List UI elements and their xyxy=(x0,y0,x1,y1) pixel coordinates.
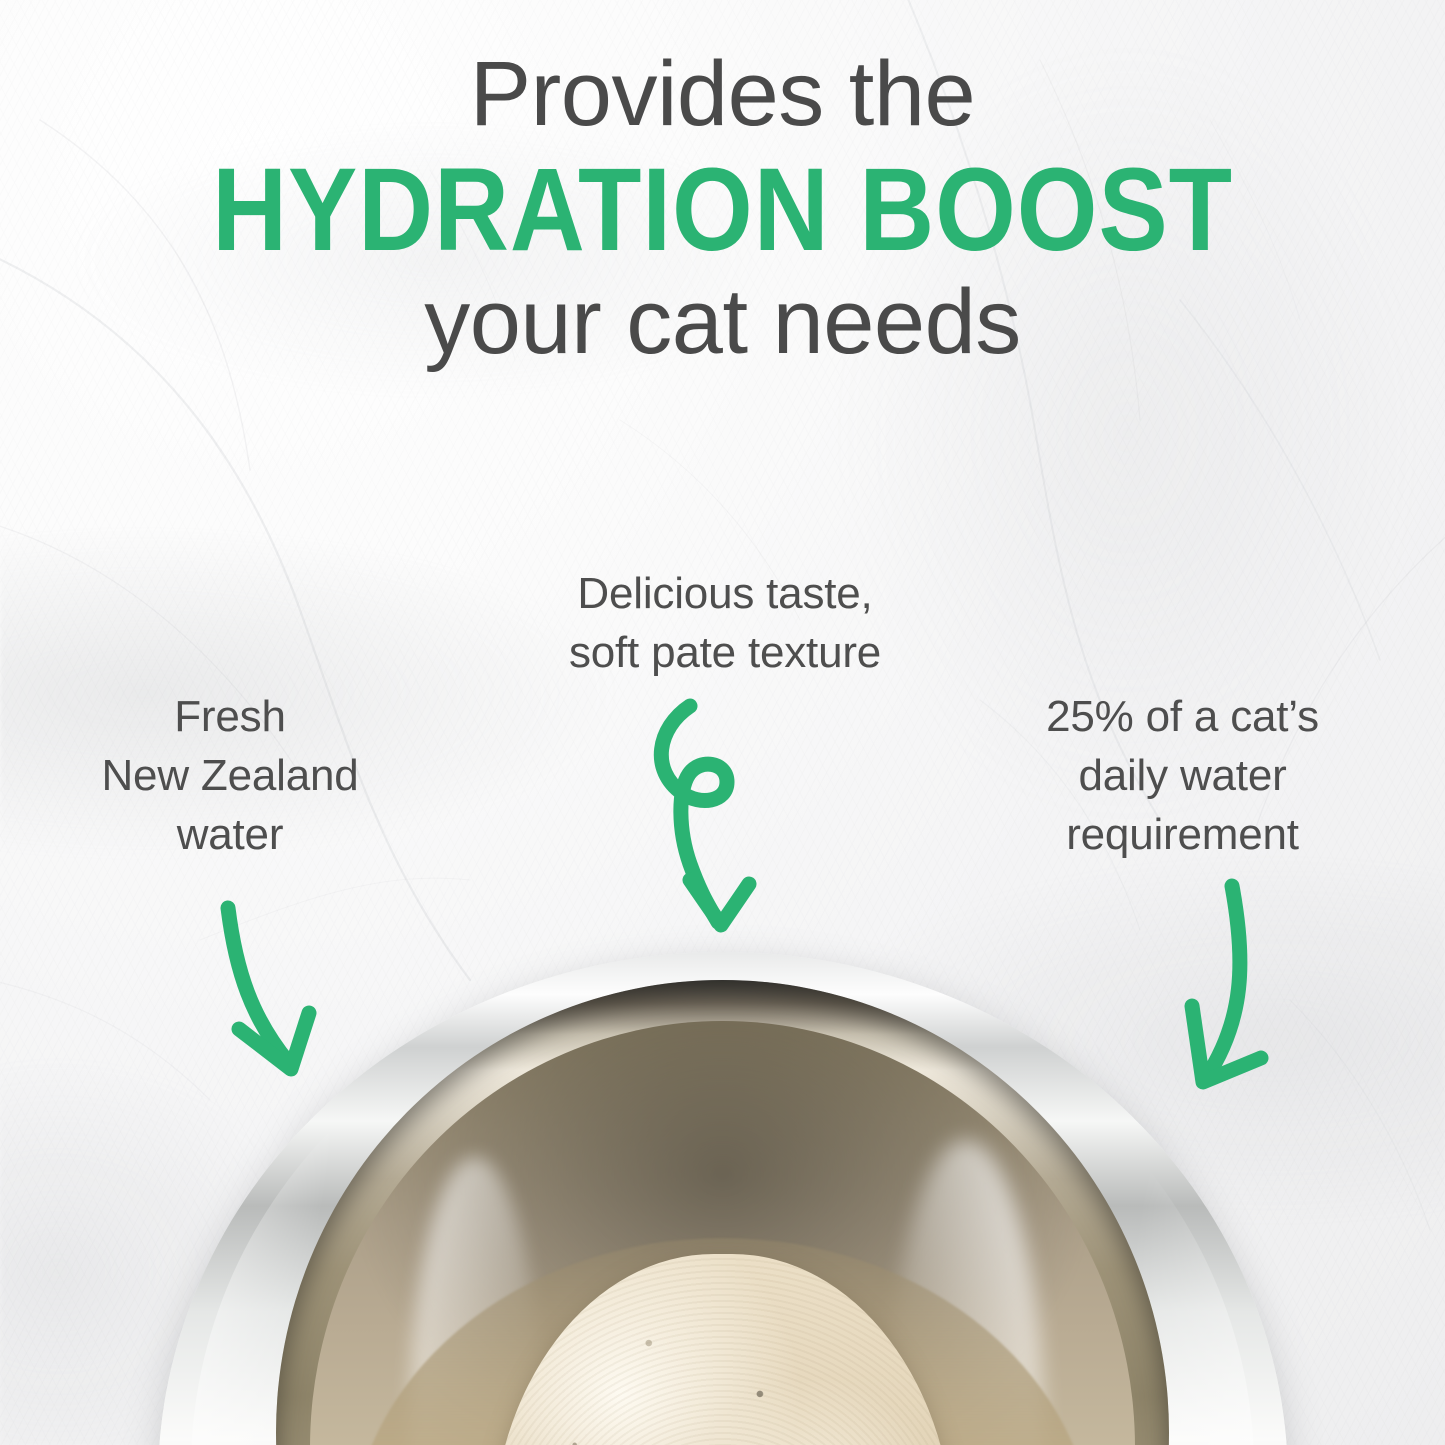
callout-daily-water-requirement: 25% of a cat’s daily water requirement xyxy=(1005,688,1360,865)
headline-line-3: your cat needs xyxy=(0,274,1445,372)
headline-line-2-accent: HYDRATION BOOST xyxy=(87,150,1359,270)
callout-left-line-1: Fresh xyxy=(60,688,400,747)
headline-block: Provides the HYDRATION BOOST your cat ne… xyxy=(0,46,1445,371)
callout-center-line-1: Delicious taste, xyxy=(500,565,950,624)
callout-right-line-3: requirement xyxy=(1005,806,1360,865)
promo-image: Provides the HYDRATION BOOST your cat ne… xyxy=(0,0,1445,1445)
callout-delicious-taste: Delicious taste, soft pate texture xyxy=(500,565,950,683)
callout-left-line-2: New Zealand xyxy=(60,747,400,806)
headline-line-1: Provides the xyxy=(0,46,1445,144)
callout-right-line-1: 25% of a cat’s xyxy=(1005,688,1360,747)
cat-food-bowl-photo xyxy=(158,952,1288,1445)
callout-right-line-2: daily water xyxy=(1005,747,1360,806)
callout-left-line-3: water xyxy=(60,806,400,865)
callout-center-line-2: soft pate texture xyxy=(500,624,950,683)
callout-fresh-new-zealand-water: Fresh New Zealand water xyxy=(60,688,400,865)
